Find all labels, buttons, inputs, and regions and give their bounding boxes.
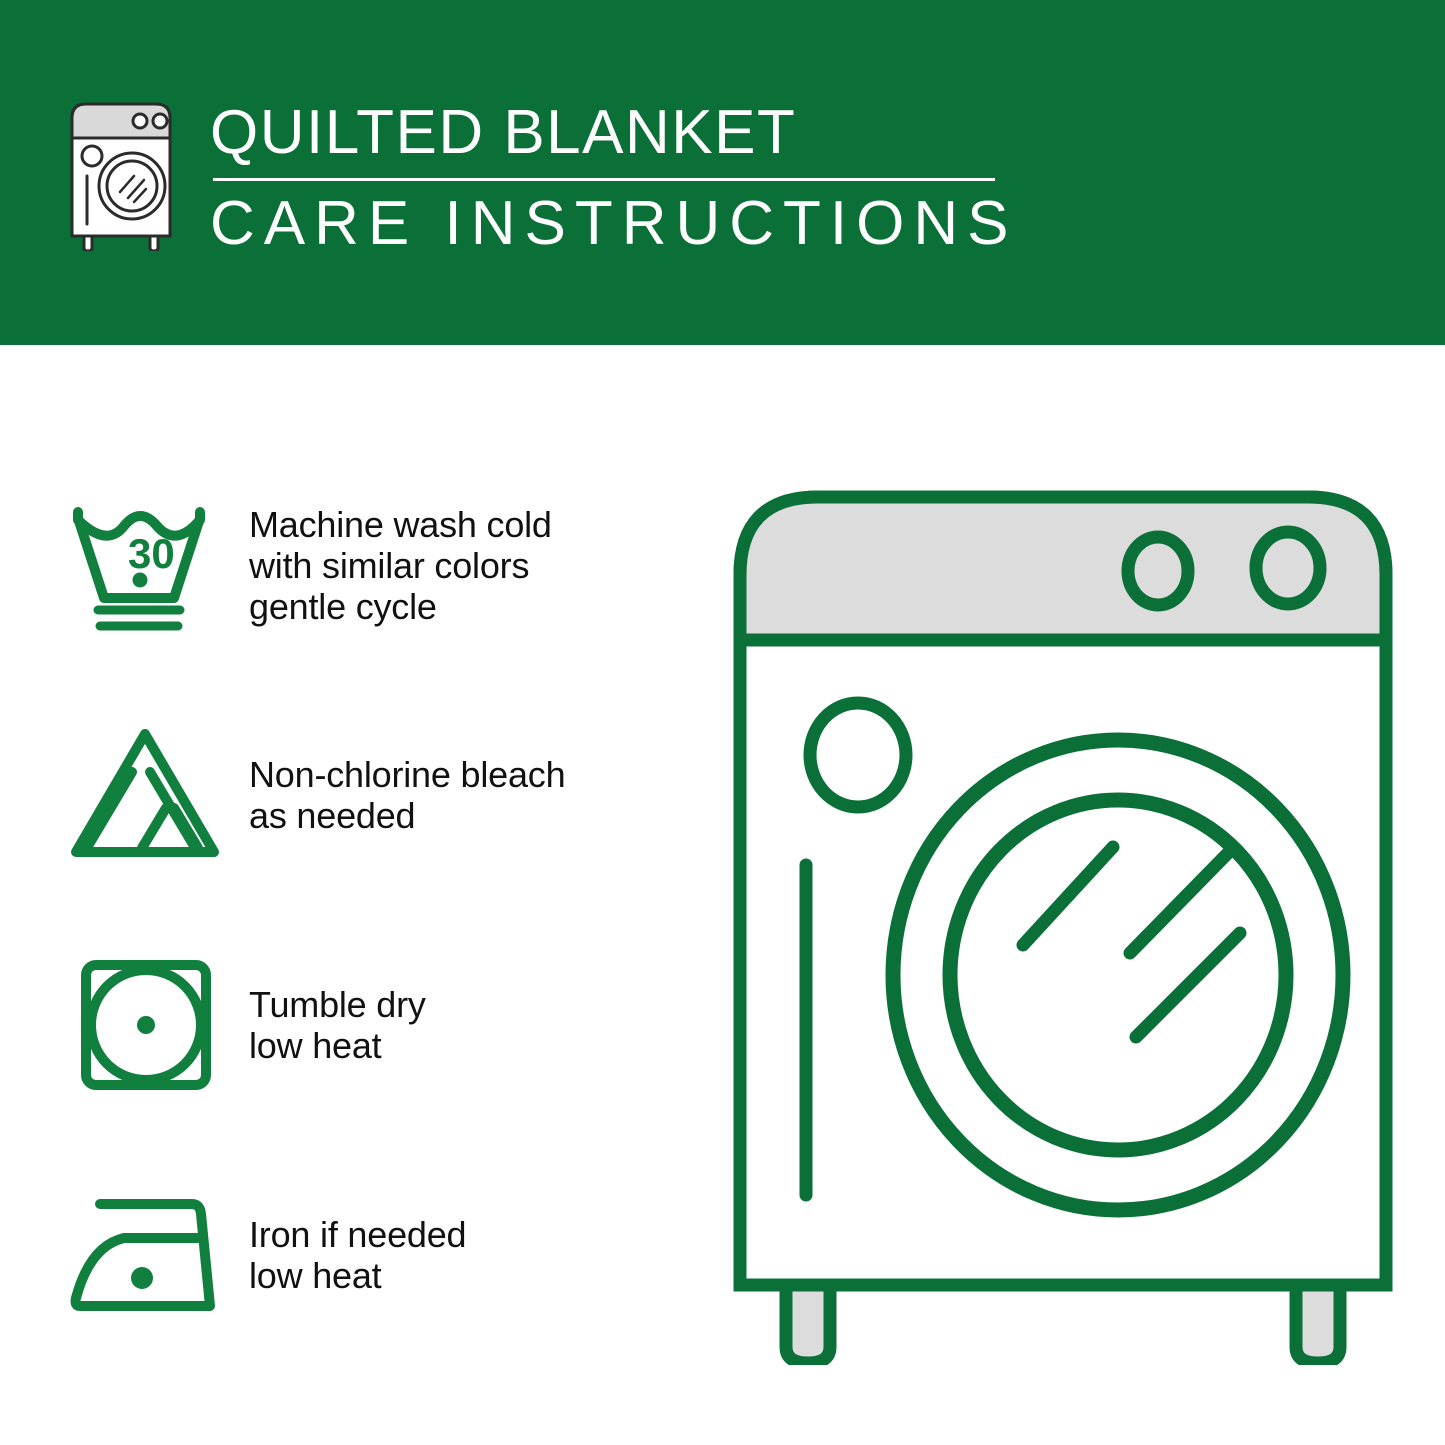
care-text-line: as needed xyxy=(249,795,565,836)
care-instruction-text: Tumble dry low heat xyxy=(237,984,426,1066)
machine-leg xyxy=(786,1285,830,1363)
washing-machine-logo-icon xyxy=(62,96,180,251)
bleach-triangle-icon xyxy=(62,715,237,875)
control-knob xyxy=(1256,532,1320,604)
header-content: QUILTED BLANKET CARE INSTRUCTIONS xyxy=(62,96,1017,257)
wash-tub-icon: 30 xyxy=(62,485,237,645)
care-instructions-page: QUILTED BLANKET CARE INSTRUCTIONS xyxy=(0,0,1445,1445)
wash-temperature-label: 30 xyxy=(128,530,175,577)
care-instruction-text: Iron if needed low heat xyxy=(237,1214,466,1296)
care-text-line: low heat xyxy=(249,1255,466,1296)
control-knob xyxy=(1128,537,1188,605)
care-text-line: Non-chlorine bleach xyxy=(249,754,565,795)
page-subtitle: CARE INSTRUCTIONS xyxy=(210,191,1017,257)
care-row: Tumble dry low heat xyxy=(62,935,682,1115)
page-title: QUILTED BLANKET xyxy=(210,100,796,166)
care-text-line: Tumble dry xyxy=(249,984,426,1025)
care-row: 30 Machine wash cold with similar colors… xyxy=(62,475,682,655)
care-instruction-list: 30 Machine wash cold with similar colors… xyxy=(62,475,682,1345)
care-text-line: gentle cycle xyxy=(249,586,552,627)
care-text-line: Machine wash cold xyxy=(249,504,552,545)
tumble-dry-icon xyxy=(62,945,237,1105)
drum-inner-ring xyxy=(950,800,1286,1150)
care-instruction-text: Non-chlorine bleach as needed xyxy=(237,754,565,836)
front-load-washing-machine-illustration xyxy=(718,475,1408,1365)
content-area: 30 Machine wash cold with similar colors… xyxy=(0,345,1445,1445)
machine-leg xyxy=(1296,1285,1340,1363)
care-row: Iron if needed low heat xyxy=(62,1165,682,1345)
care-instruction-text: Machine wash cold with similar colors ge… xyxy=(237,504,552,627)
care-text-line: Iron if needed xyxy=(249,1214,466,1255)
care-text-line: low heat xyxy=(249,1025,426,1066)
iron-icon xyxy=(62,1175,237,1335)
title-divider xyxy=(213,178,995,181)
care-text-line: with similar colors xyxy=(249,545,552,586)
dispenser-button xyxy=(810,703,906,807)
care-row: Non-chlorine bleach as needed xyxy=(62,705,682,885)
header-titles: QUILTED BLANKET CARE INSTRUCTIONS xyxy=(210,96,1017,257)
header-band: QUILTED BLANKET CARE INSTRUCTIONS xyxy=(0,0,1445,345)
